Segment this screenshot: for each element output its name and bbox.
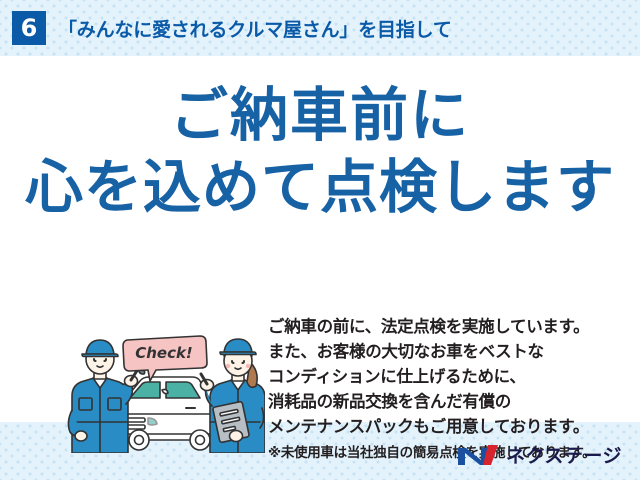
content-card: ご納車前に 心を込めて点検します: [0, 56, 640, 422]
header-title: 「みんなに愛されるクルマ屋さん」を目指して: [58, 15, 452, 42]
headline-line-1: ご納車前に: [0, 86, 640, 144]
body-line: コンディションに仕上げるために、: [268, 364, 628, 389]
header-badge-number: 6: [12, 11, 46, 45]
nextage-logo: ネクステージ: [457, 441, 622, 468]
page-title: ご納車前に 心を込めて点検します: [0, 86, 640, 216]
headline-line-2: 心を込めて点検します: [0, 158, 640, 216]
banner-footer: ネクステージ: [0, 422, 640, 480]
check-bubble-label: Check!: [135, 344, 193, 362]
nextage-logo-text: ネクステージ: [506, 441, 622, 468]
promo-banner: 6 「みんなに愛されるクルマ屋さん」を目指して ご納車前に 心を込めて点検します: [0, 0, 640, 480]
body-line: ご納車の前に、法定点検を実施しています。: [268, 314, 628, 339]
banner-header: 6 「みんなに愛されるクルマ屋さん」を目指して: [0, 0, 640, 56]
body-line: 消耗品の新品交換を含んだ有償の: [268, 389, 628, 414]
body-line: また、お客様の大切なお車をベストな: [268, 339, 628, 364]
nextage-logo-mark-icon: [457, 444, 499, 466]
